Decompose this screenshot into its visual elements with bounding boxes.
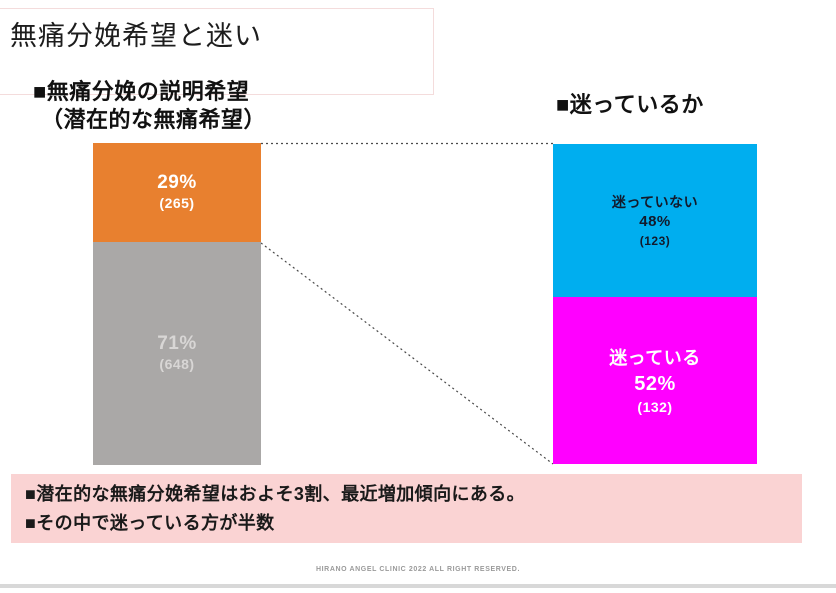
connector-line-diagonal: [261, 243, 553, 464]
summary-line-1: ■潜在的な無痛分娩希望はおよそ3割、最近増加傾向にある。: [25, 480, 802, 509]
left-chart-heading: ■無痛分娩の説明希望 （潜在的な無痛希望）: [33, 78, 266, 134]
right-bar-segment-not-hesitating-percent: 48%: [639, 212, 671, 232]
left-bar-segment-yes[interactable]: 29% (265): [93, 143, 261, 242]
left-bar-segment-yes-count: (265): [159, 194, 194, 212]
right-bar-segment-hesitating[interactable]: 迷っている 52% (132): [553, 297, 757, 464]
summary-line-2: ■その中で迷っている方が半数: [25, 509, 802, 538]
right-chart-heading: ■迷っているか: [556, 87, 704, 119]
slide-canvas: 無痛分娩希望と迷い ■無痛分娩の説明希望 （潜在的な無痛希望） ■迷っているか …: [0, 0, 836, 593]
left-stacked-bar: 29% (265) 71% (648): [93, 143, 261, 465]
right-bar-segment-hesitating-label: 迷っている: [609, 345, 701, 371]
right-bar-segment-hesitating-count: (132): [637, 398, 672, 417]
right-bar-segment-not-hesitating-count: (123): [640, 233, 671, 249]
summary-panel: ■潜在的な無痛分娩希望はおよそ3割、最近増加傾向にある。 ■その中で迷っている方…: [11, 474, 802, 543]
left-bar-segment-yes-percent: 29%: [157, 172, 197, 194]
footer-copyright: HIRANO ANGEL CLINIC 2022 ALL RIGHT RESER…: [0, 566, 836, 573]
bottom-edge: [0, 588, 836, 593]
right-bar-segment-hesitating-percent: 52%: [634, 371, 676, 398]
right-stacked-bar: 迷っていない 48% (123) 迷っている 52% (132): [553, 144, 757, 464]
left-bar-segment-no-count: (648): [159, 355, 194, 373]
page-title: 無痛分娩希望と迷い: [10, 14, 262, 53]
right-bar-segment-not-hesitating[interactable]: 迷っていない 48% (123): [553, 144, 757, 297]
right-bar-segment-not-hesitating-label: 迷っていない: [612, 192, 698, 212]
left-bar-segment-no-percent: 71%: [157, 333, 197, 355]
left-chart-heading-line2: （潜在的な無痛希望）: [33, 106, 266, 134]
left-chart-heading-line1: ■無痛分娩の説明希望: [33, 79, 249, 104]
left-bar-segment-no[interactable]: 71% (648): [93, 242, 261, 465]
